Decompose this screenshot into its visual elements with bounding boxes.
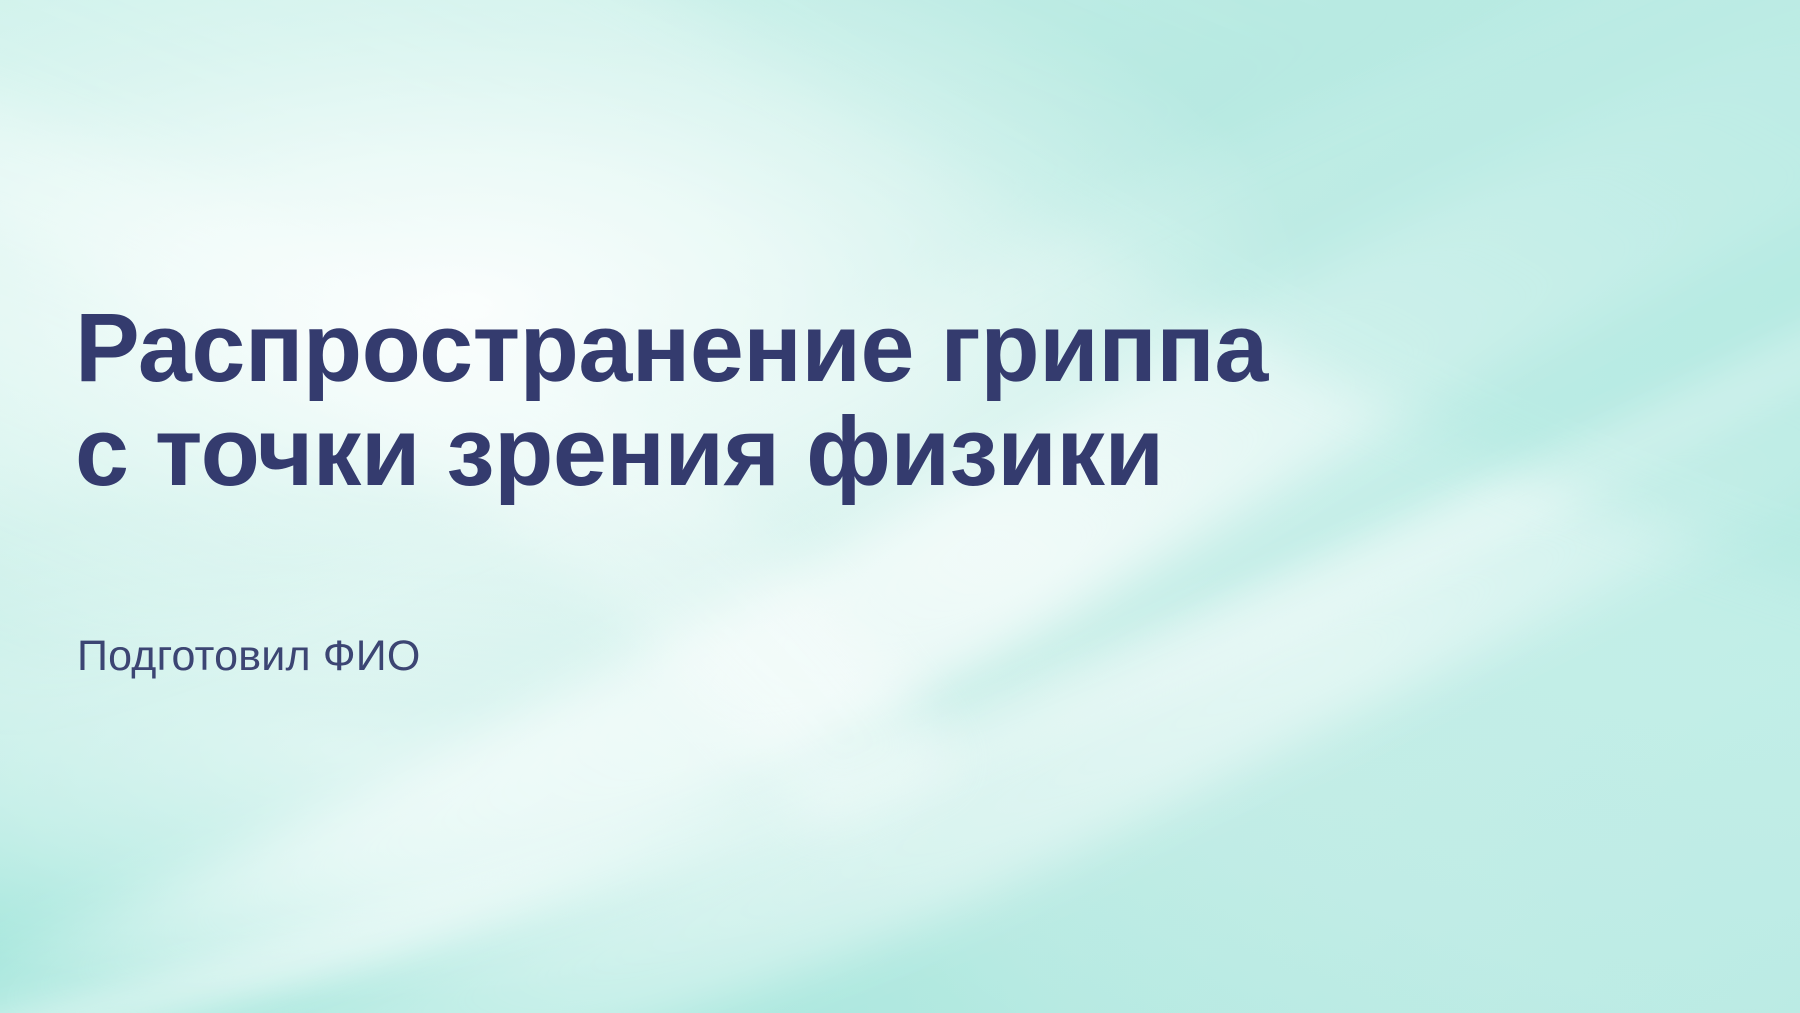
title-line-1: Распространение гриппа <box>75 296 1535 400</box>
title-slide: Распространение гриппа с точки зрения фи… <box>0 0 1800 1013</box>
slide-content: Распространение гриппа с точки зрения фи… <box>75 0 1575 1013</box>
page-title: Распространение гриппа с точки зрения фи… <box>75 296 1535 504</box>
title-line-2: с точки зрения физики <box>75 400 1535 504</box>
author-subtitle: Подготовил ФИО <box>77 628 421 684</box>
